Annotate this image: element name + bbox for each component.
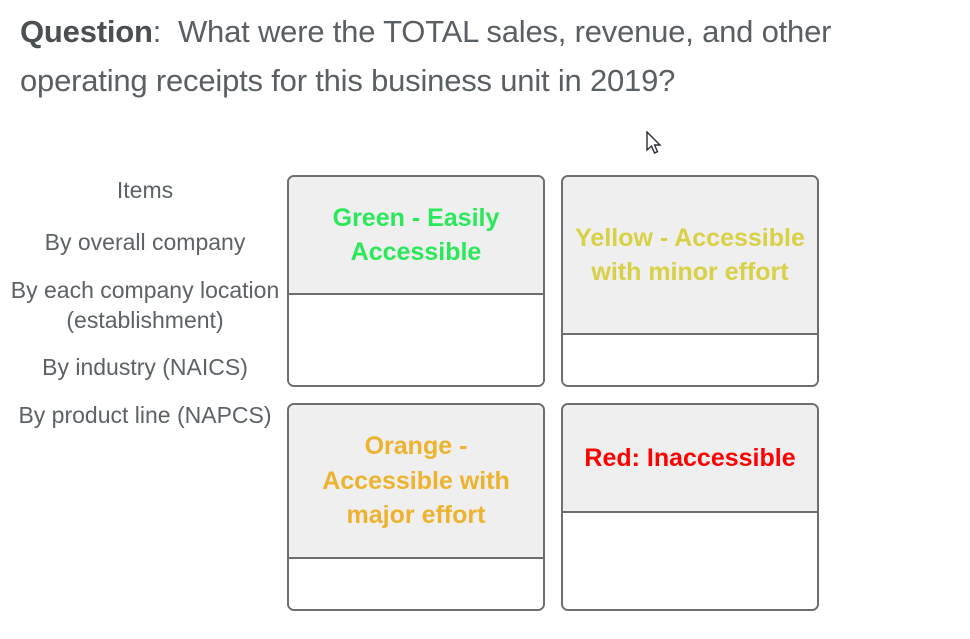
accessibility-quadrant-matrix: Items By overall company By each company… xyxy=(0,0,970,639)
quadrant-yellow-title: Yellow - Accessible with minor effort xyxy=(563,177,817,335)
quadrant-orange-title: Orange - Accessible with major effort xyxy=(289,405,543,559)
item-row-company-location: By each company location (establishment) xyxy=(10,275,280,336)
quadrant-green[interactable]: Green - Easily Accessible xyxy=(287,175,545,387)
item-row-industry-naics: By industry (NAICS) xyxy=(10,352,280,382)
quadrant-orange[interactable]: Orange - Accessible with major effort xyxy=(287,403,545,611)
items-column-heading: Items xyxy=(10,175,280,205)
quadrant-yellow[interactable]: Yellow - Accessible with minor effort xyxy=(561,175,819,387)
quadrant-red-title: Red: Inaccessible xyxy=(563,405,817,513)
quadrant-red-dropzone[interactable] xyxy=(563,513,817,609)
item-row-overall-company: By overall company xyxy=(10,227,280,257)
quadrant-orange-dropzone[interactable] xyxy=(289,559,543,609)
quadrant-green-title: Green - Easily Accessible xyxy=(289,177,543,295)
arrow-pointer-icon xyxy=(645,131,665,157)
items-column: Items By overall company By each company… xyxy=(10,175,280,447)
quadrant-green-dropzone[interactable] xyxy=(289,295,543,385)
quadrant-red[interactable]: Red: Inaccessible xyxy=(561,403,819,611)
item-row-product-line-napcs: By product line (NAPCS) xyxy=(10,400,280,430)
quadrant-yellow-dropzone[interactable] xyxy=(563,335,817,385)
